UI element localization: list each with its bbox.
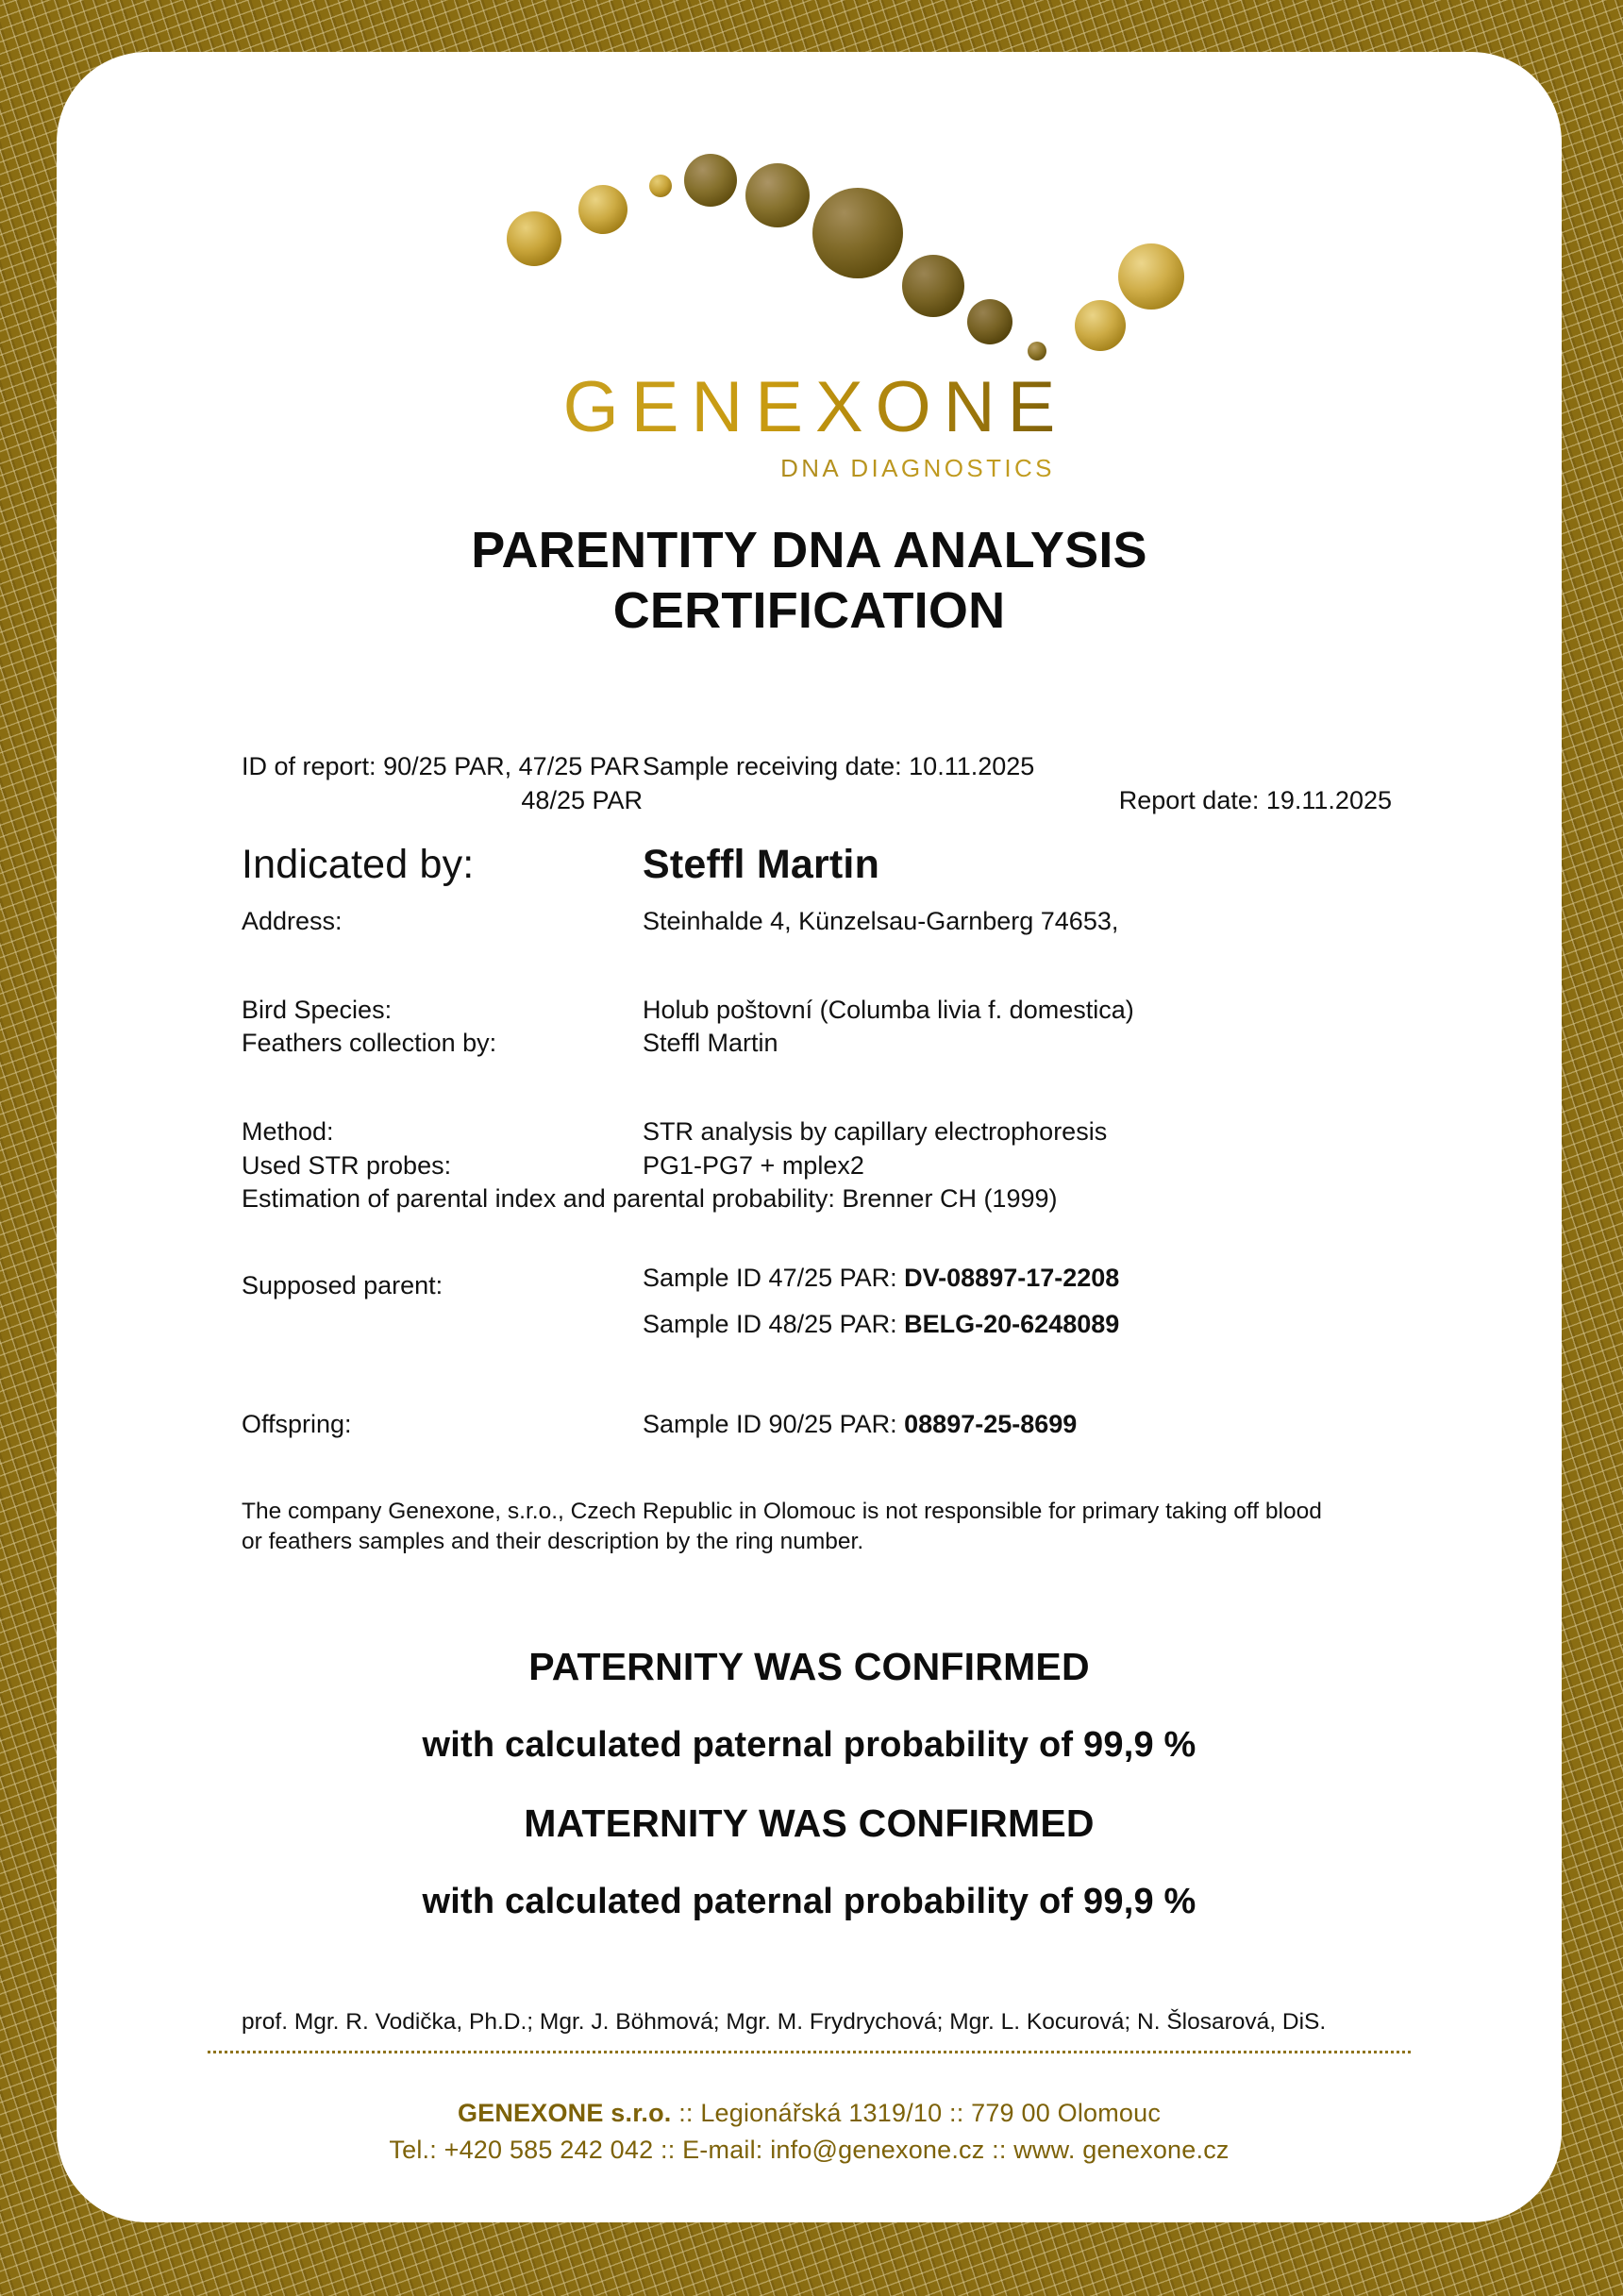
bird-species-label: Bird Species: [242,994,643,1028]
indicated-by-value: Steffl Martin [643,838,1448,892]
bird-species-row: Bird Species: Holub poštovní (Columba li… [57,994,1562,1028]
parent-sample-2-prefix: Sample ID 48/25 PAR: [643,1310,904,1338]
report-id-row-2: 48/25 PAR Report date: 19.11.2025 [57,784,1562,818]
report-id-value-1: 90/25 PAR, 47/25 PAR [383,752,640,780]
report-date: Report date: 19.11.2025 [669,784,1448,818]
supposed-parent-values: Sample ID 47/25 PAR: DV-08897-17-2208 Sa… [643,1262,1448,1342]
certificate-body: ID of report: 90/25 PAR, 47/25 PAR Sampl… [57,750,1562,2036]
parent-sample-2-id: BELG-20-6248089 [904,1310,1119,1338]
footer-company-name: GENEXONE s.r.o. [458,2099,672,2127]
page-title-line1: PARENTITY DNA ANALYSIS [160,521,1458,581]
sample-receiving-date: Sample receiving date: 10.11.2025 [643,750,1448,784]
parent-sample-1-id: DV-08897-17-2208 [904,1264,1119,1292]
parent-sample-1: Sample ID 47/25 PAR: DV-08897-17-2208 [643,1262,1448,1296]
offspring-sample-id: 08897-25-8699 [904,1410,1077,1438]
supposed-parent-row: Supposed parent: Sample ID 47/25 PAR: DV… [57,1262,1562,1342]
disclaimer-line-2: or feathers samples and their descriptio… [242,1527,1439,1558]
offspring-label: Offspring: [242,1408,643,1442]
maternity-detail: with calculated paternal probability of … [57,1882,1562,1922]
report-id-row-1: ID of report: 90/25 PAR, 47/25 PAR Sampl… [57,750,1562,784]
results-block: PATERNITY WAS CONFIRMED with calculated … [57,1645,1562,1922]
report-id-value-2: 48/25 PAR [242,784,669,818]
supposed-parent-label: Supposed parent: [242,1262,643,1342]
address-row: Address: Steinhalde 4, Künzelsau-Garnber… [57,905,1562,939]
feathers-collection-label: Feathers collection by: [242,1027,643,1061]
offspring-row: Offspring: Sample ID 90/25 PAR: 08897-25… [57,1408,1562,1442]
indicated-by-label: Indicated by: [242,838,643,892]
certificate-page: GENEXONE DNA DIAGNOSTICS PARENTITY DNA A… [57,52,1562,2222]
paternity-heading: PATERNITY WAS CONFIRMED [57,1645,1562,1689]
str-probes-row: Used STR probes: PG1-PG7 + mplex2 [57,1149,1562,1183]
report-id-line-1: ID of report: 90/25 PAR, 47/25 PAR [242,750,643,784]
offspring-value: Sample ID 90/25 PAR: 08897-25-8699 [643,1408,1448,1442]
footer-divider [208,2048,1411,2053]
str-probes-label: Used STR probes: [242,1149,643,1183]
signatories-line: prof. Mgr. R. Vodička, Ph.D.; Mgr. J. Bö… [57,2009,1562,2036]
feathers-collection-value: Steffl Martin [643,1027,1448,1061]
company-logo: GENEXONE DNA DIAGNOSTICS [57,110,1562,483]
report-id-label: ID of report: [242,752,376,780]
bird-species-value: Holub poštovní (Columba livia f. domesti… [643,994,1448,1028]
method-row: Method: STR analysis by capillary electr… [57,1115,1562,1149]
disclaimer-line-1: The company Genexone, s.r.o., Czech Repu… [242,1497,1439,1528]
paternity-detail: with calculated paternal probability of … [57,1725,1562,1766]
offspring-sample-prefix: Sample ID 90/25 PAR: [643,1410,904,1438]
maternity-heading: MATERNITY WAS CONFIRMED [57,1802,1562,1846]
address-value: Steinhalde 4, Künzelsau-Garnberg 74653, [643,905,1448,939]
method-value: STR analysis by capillary electrophoresi… [643,1115,1448,1149]
address-label: Address: [242,905,643,939]
logo-bubbles-graphic [57,110,1562,370]
parent-sample-1-prefix: Sample ID 47/25 PAR: [643,1264,904,1292]
method-label: Method: [242,1115,643,1149]
footer-contact-line: Tel.: +420 585 242 042 :: E-mail: info@g… [57,2132,1562,2168]
page-footer: GENEXONE s.r.o. :: Legionářská 1319/10 :… [57,2048,1562,2168]
page-title: PARENTITY DNA ANALYSIS CERTIFICATION [160,521,1458,641]
footer-contact-info: GENEXONE s.r.o. :: Legionářská 1319/10 :… [57,2095,1562,2168]
estimation-line: Estimation of parental index and parenta… [57,1182,1562,1216]
footer-address: :: Legionářská 1319/10 :: 779 00 Olomouc [672,2099,1162,2127]
str-probes-value: PG1-PG7 + mplex2 [643,1149,1448,1183]
indicated-by-row: Indicated by: Steffl Martin [57,838,1562,892]
logo-tagline: DNA DIAGNOSTICS [57,454,1562,483]
feathers-collection-row: Feathers collection by: Steffl Martin [57,1027,1562,1061]
footer-address-line: GENEXONE s.r.o. :: Legionářská 1319/10 :… [57,2095,1562,2131]
page-title-line2: CERTIFICATION [160,581,1458,642]
disclaimer: The company Genexone, s.r.o., Czech Repu… [57,1497,1562,1558]
logo-wordmark: GENEXONE [551,366,1068,448]
parent-sample-2: Sample ID 48/25 PAR: BELG-20-6248089 [643,1308,1448,1342]
